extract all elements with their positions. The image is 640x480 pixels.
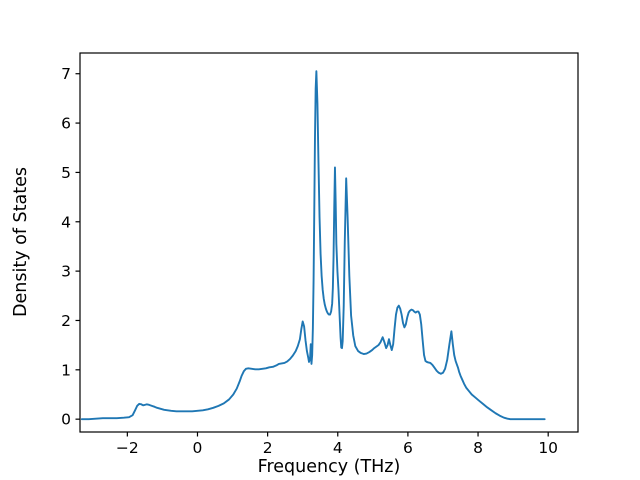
y-tick-label: 3 (61, 263, 71, 281)
x-tick-label: 6 (403, 439, 413, 457)
y-tick-label: 4 (61, 213, 71, 231)
axes-frame (80, 53, 578, 432)
x-tick-label: −2 (116, 439, 139, 457)
x-tick-label: 4 (333, 439, 343, 457)
x-tick-label: 10 (538, 439, 558, 457)
y-tick-label: 5 (61, 164, 71, 182)
y-axis-ticks: 01234567 (61, 65, 80, 428)
x-tick-label: 0 (193, 439, 203, 457)
x-tick-label: 8 (473, 439, 483, 457)
y-axis-title: Density of States (11, 167, 31, 317)
density-of-states-plot: −20246810 01234567 Frequency (THz) Densi… (0, 0, 640, 480)
y-tick-label: 2 (61, 312, 71, 330)
y-tick-label: 6 (61, 115, 71, 133)
x-tick-label: 2 (263, 439, 273, 457)
x-axis-title: Frequency (THz) (258, 457, 401, 477)
y-tick-label: 0 (61, 411, 71, 429)
y-tick-label: 1 (61, 361, 71, 379)
y-tick-label: 7 (61, 65, 71, 83)
figure-canvas: −20246810 01234567 Frequency (THz) Densi… (0, 0, 640, 480)
dos-curve (82, 71, 545, 419)
data-series-group (82, 71, 545, 419)
x-axis-ticks: −20246810 (116, 432, 558, 457)
